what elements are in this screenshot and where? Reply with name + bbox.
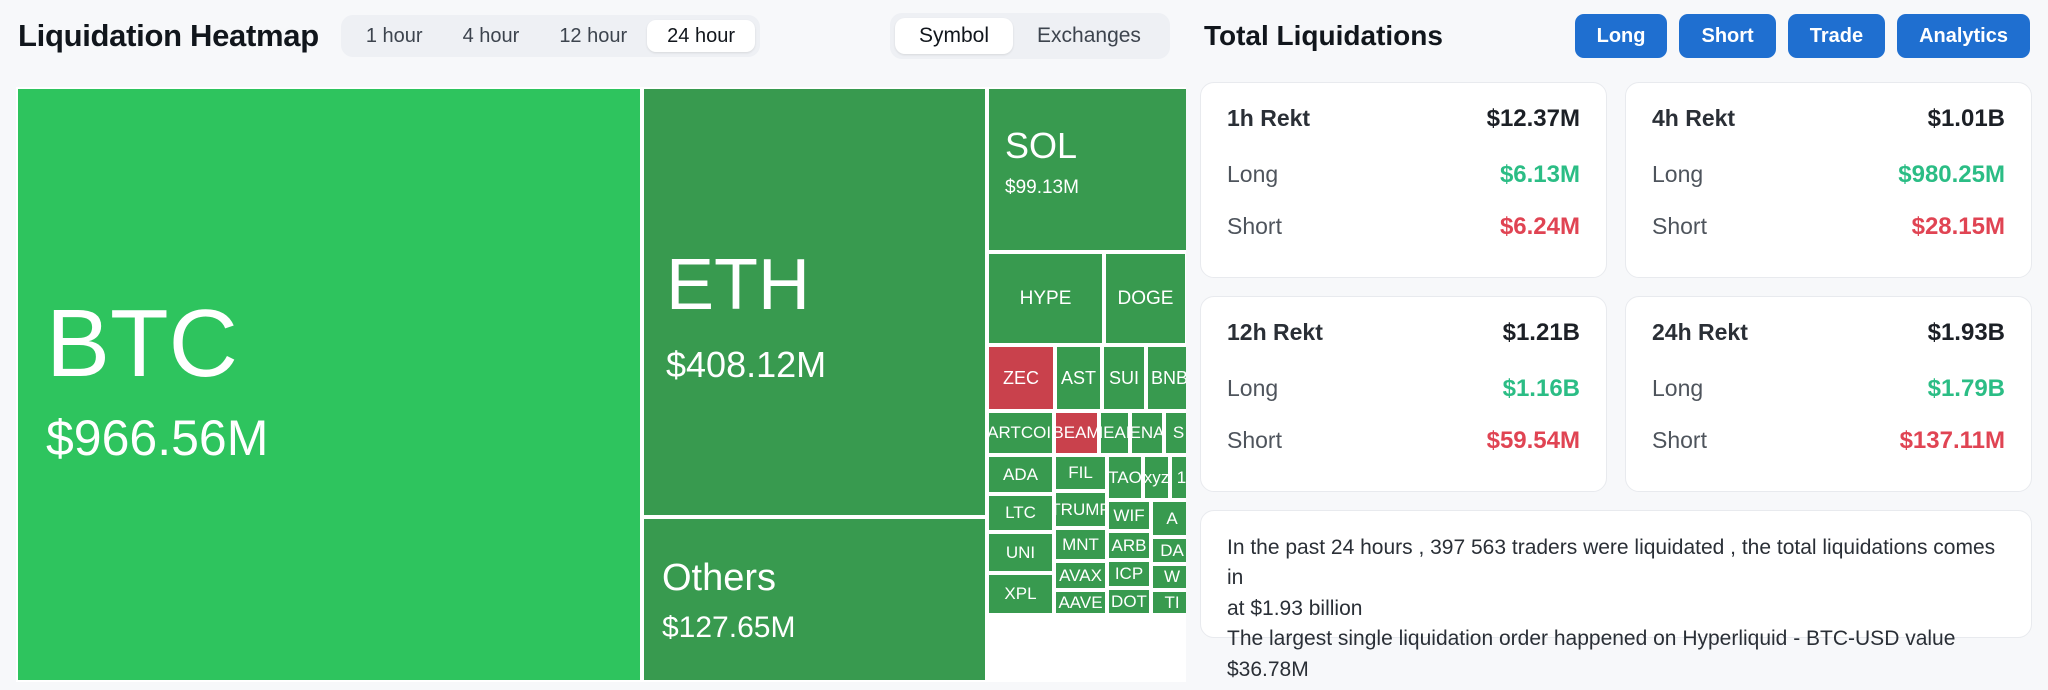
stat-total-value: $1.93B <box>1928 319 2005 347</box>
tile-value: $408.12M <box>666 344 826 386</box>
liquidation-heatmap-page: Liquidation Heatmap 1 hour4 hour12 hour2… <box>0 0 2048 690</box>
stat-short-label: Short <box>1652 427 1707 454</box>
header-bar: Liquidation Heatmap 1 hour4 hour12 hour2… <box>0 0 2048 72</box>
stat-long-label: Long <box>1652 161 1703 188</box>
stat-long-value: $6.13M <box>1500 161 1580 189</box>
tile-symbol: ETH <box>666 244 810 326</box>
tile-symbol: ENA <box>1130 423 1164 443</box>
timeframe-option-24-hour[interactable]: 24 hour <box>647 20 755 52</box>
stat-long-row: Long$1.16B <box>1227 375 1580 403</box>
stat-card-4h: 4h Rekt$1.01BLong$980.25MShort$28.15M <box>1625 82 2032 278</box>
treemap-tile-fil[interactable]: FIL <box>1054 455 1107 491</box>
tile-symbol: SOL <box>1005 125 1077 167</box>
summary-line-2: at $1.93 billion <box>1227 594 2005 624</box>
treemap-tile-sol[interactable]: SOL$99.13M <box>987 87 1186 252</box>
stat-card-12h: 12h Rekt$1.21BLong$1.16BShort$59.54M <box>1200 296 1607 492</box>
treemap-tile-a[interactable]: A <box>1151 500 1186 537</box>
tile-symbol: FIL <box>1068 463 1093 483</box>
stat-long-value: $980.25M <box>1898 161 2005 189</box>
stat-period-label: 4h Rekt <box>1652 105 1735 132</box>
summary-line-1: In the past 24 hours , 397 563 traders w… <box>1227 533 2005 594</box>
treemap-tile-ti[interactable]: TI <box>1151 590 1186 615</box>
summary-line-3: The largest single liquidation order hap… <box>1227 624 2005 685</box>
tile-symbol: LTC <box>1005 503 1036 523</box>
stat-period-label: 24h Rekt <box>1652 319 1748 346</box>
treemap-tile-1[interactable]: 1 <box>1170 455 1186 500</box>
stat-short-row: Short$59.54M <box>1227 427 1580 455</box>
treemap-tile-xpl[interactable]: XPL <box>987 573 1054 615</box>
summary-card: In the past 24 hours , 397 563 traders w… <box>1200 510 2032 638</box>
stat-short-label: Short <box>1227 213 1282 240</box>
timeframe-option-12-hour[interactable]: 12 hour <box>539 20 647 52</box>
timeframe-segmented-control[interactable]: 1 hour4 hour12 hour24 hour <box>341 15 760 57</box>
treemap-tile-btc[interactable]: BTC$966.56M <box>16 87 642 682</box>
treemap-tile-icp[interactable]: ICP <box>1107 560 1151 588</box>
treemap-tile-mnt[interactable]: MNT <box>1054 528 1107 561</box>
stat-short-label: Short <box>1227 427 1282 454</box>
stat-short-value: $137.11M <box>1900 427 2005 455</box>
treemap-tile-arb[interactable]: ARB <box>1107 531 1151 560</box>
tile-symbol: DOT <box>1111 592 1147 612</box>
treemap-tile-fartcoin[interactable]: FARTCOIN <box>987 411 1054 455</box>
treemap-tile-xyz[interactable]: xyz <box>1143 455 1170 500</box>
stat-header-row: 12h Rekt$1.21B <box>1227 319 1580 347</box>
tile-symbol: Others <box>662 557 776 600</box>
stat-short-value: $59.54M <box>1487 427 1580 455</box>
stat-long-value: $1.16B <box>1503 375 1580 403</box>
stat-period-label: 1h Rekt <box>1227 105 1310 132</box>
tile-symbol: DA <box>1160 541 1184 561</box>
stat-total-value: $1.01B <box>1928 105 2005 133</box>
tile-symbol: W <box>1164 567 1180 587</box>
trade-button[interactable]: Trade <box>1788 14 1885 58</box>
tile-symbol: DOGE <box>1118 288 1174 310</box>
short-button[interactable]: Short <box>1679 14 1775 58</box>
stat-long-row: Long$980.25M <box>1652 161 2005 189</box>
stat-card-1h: 1h Rekt$12.37MLong$6.13MShort$6.24M <box>1200 82 1607 278</box>
treemap-tile-ena[interactable]: ENA <box>1130 411 1164 455</box>
tile-symbol: TAO <box>1108 468 1142 488</box>
stat-long-value: $1.79B <box>1928 375 2005 403</box>
tile-symbol: ARB <box>1112 536 1147 556</box>
tile-symbol: BEAM <box>1054 423 1099 443</box>
treemap-tile-beam[interactable]: BEAM <box>1054 411 1099 455</box>
stat-long-label: Long <box>1227 375 1278 402</box>
tile-symbol: 1 <box>1177 468 1186 488</box>
stat-short-label: Short <box>1652 213 1707 240</box>
tile-symbol: ADA <box>1003 465 1038 485</box>
treemap-tile-hype[interactable]: HYPE <box>987 252 1104 345</box>
stat-header-row: 24h Rekt$1.93B <box>1652 319 2005 347</box>
treemap-tile-s[interactable]: S <box>1164 411 1186 455</box>
tile-symbol: SUI <box>1109 368 1139 389</box>
treemap-tile-wif[interactable]: WIF <box>1107 500 1151 531</box>
tile-symbol: HYPE <box>1020 288 1072 310</box>
tile-symbol: TRUMP <box>1054 500 1107 520</box>
treemap-tile-ada[interactable]: ADA <box>987 455 1054 494</box>
mode-option-exchanges[interactable]: Exchanges <box>1013 18 1165 54</box>
treemap-tile-near[interactable]: NEAR <box>1099 411 1130 455</box>
treemap-tile-trump[interactable]: TRUMP <box>1054 491 1107 528</box>
total-liquidations-title: Total Liquidations <box>1204 20 1443 52</box>
stat-short-row: Short$6.24M <box>1227 213 1580 241</box>
timeframe-option-1-hour[interactable]: 1 hour <box>346 20 443 52</box>
timeframe-option-4-hour[interactable]: 4 hour <box>443 20 540 52</box>
page-title: Liquidation Heatmap <box>18 18 319 54</box>
treemap-tile-avax[interactable]: AVAX <box>1054 561 1107 590</box>
stat-short-value: $28.15M <box>1912 213 2005 241</box>
tile-symbol: MNT <box>1062 535 1099 555</box>
stat-card-24h: 24h Rekt$1.93BLong$1.79BShort$137.11M <box>1625 296 2032 492</box>
stat-short-row: Short$28.15M <box>1652 213 2005 241</box>
treemap-tile-sui[interactable]: SUI <box>1102 345 1146 411</box>
tile-symbol: BNB <box>1151 368 1186 389</box>
tile-value: $127.65M <box>662 611 795 645</box>
stat-header-row: 1h Rekt$12.37M <box>1227 105 1580 133</box>
tile-symbol: TI <box>1164 593 1179 613</box>
mode-option-symbol[interactable]: Symbol <box>895 18 1013 54</box>
tile-symbol: BTC <box>46 289 238 399</box>
grouping-mode-toggle[interactable]: SymbolExchanges <box>890 13 1170 59</box>
stat-long-label: Long <box>1652 375 1703 402</box>
right-panel: 1h Rekt$12.37MLong$6.13MShort$6.24M4h Re… <box>1200 82 2032 638</box>
treemap-tile-tao[interactable]: TAO <box>1107 455 1143 500</box>
stat-total-value: $12.37M <box>1487 105 1580 133</box>
treemap-tile-dot[interactable]: DOT <box>1107 588 1151 615</box>
tile-symbol: XPL <box>1004 584 1036 604</box>
treemap-tile-eth[interactable]: ETH$408.12M <box>642 87 987 517</box>
tile-symbol: UNI <box>1006 543 1035 563</box>
tile-value: $99.13M <box>1005 177 1079 199</box>
treemap-tile-others[interactable]: Others$127.65M <box>642 517 987 682</box>
tile-symbol: AST <box>1061 368 1096 389</box>
stat-header-row: 4h Rekt$1.01B <box>1652 105 2005 133</box>
stat-period-label: 12h Rekt <box>1227 319 1323 346</box>
tile-symbol: FARTCOIN <box>987 423 1054 443</box>
tile-symbol: xyz <box>1144 468 1170 488</box>
header-action-buttons: LongShortTradeAnalytics <box>1575 14 2030 58</box>
tile-symbol: A <box>1166 509 1177 529</box>
treemap-tile-ast[interactable]: AST <box>1055 345 1102 411</box>
tile-symbol: ZEC <box>1003 368 1039 389</box>
tile-symbol: ICP <box>1115 564 1143 584</box>
liquidation-treemap[interactable]: BTC$966.56METH$408.12MOthers$127.65MSOL$… <box>16 87 1186 682</box>
stat-long-row: Long$1.79B <box>1652 375 2005 403</box>
stat-long-row: Long$6.13M <box>1227 161 1580 189</box>
tile-symbol: AVAX <box>1059 566 1102 586</box>
stat-short-row: Short$137.11M <box>1652 427 2005 455</box>
treemap-tile-doge[interactable]: DOGE <box>1104 252 1186 345</box>
stat-short-value: $6.24M <box>1500 213 1580 241</box>
stat-long-label: Long <box>1227 161 1278 188</box>
tile-value: $966.56M <box>46 409 268 467</box>
tile-symbol: S <box>1173 423 1184 443</box>
stat-total-value: $1.21B <box>1503 319 1580 347</box>
long-button[interactable]: Long <box>1575 14 1668 58</box>
rekt-stat-cards: 1h Rekt$12.37MLong$6.13MShort$6.24M4h Re… <box>1200 82 2032 492</box>
treemap-tile-da[interactable]: DA <box>1151 537 1186 564</box>
tile-symbol: WIF <box>1113 506 1144 526</box>
treemap-tile-bnb[interactable]: BNB <box>1146 345 1186 411</box>
treemap-tile-uni[interactable]: UNI <box>987 532 1054 573</box>
treemap-tile-aave[interactable]: AAVE <box>1054 590 1107 615</box>
treemap-tile-w[interactable]: W <box>1151 564 1186 590</box>
tile-symbol: AAVE <box>1058 593 1102 613</box>
treemap-tile-zec[interactable]: ZEC <box>987 345 1055 411</box>
tile-symbol: NEAR <box>1099 423 1130 443</box>
treemap-tile-ltc[interactable]: LTC <box>987 494 1054 532</box>
analytics-button[interactable]: Analytics <box>1897 14 2030 58</box>
